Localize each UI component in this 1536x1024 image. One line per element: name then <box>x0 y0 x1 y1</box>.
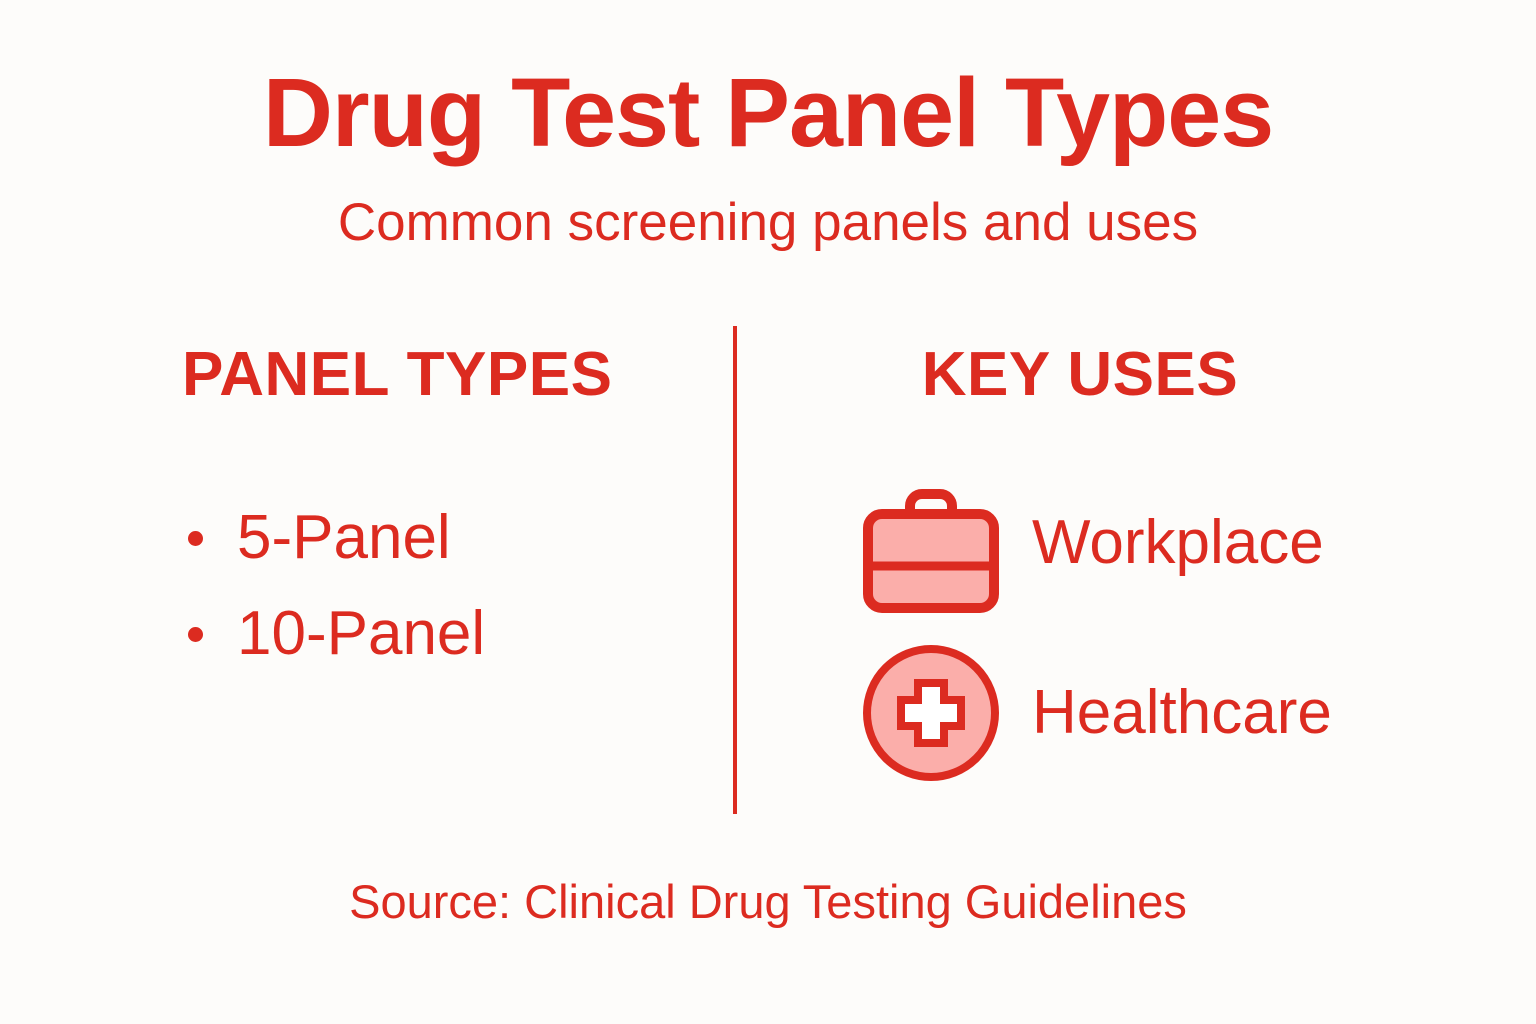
source-attribution: Source: Clinical Drug Testing Guidelines <box>0 876 1536 928</box>
list-item-label: Workplace <box>1032 512 1324 574</box>
column-divider <box>733 326 737 814</box>
list-item-label: 5-Panel <box>237 507 451 569</box>
list-item: 10-Panel <box>110 586 710 682</box>
list-item-label: Healthcare <box>1032 682 1332 744</box>
list-item: Healthcare <box>858 628 1518 798</box>
panel-types-list: 5-Panel 10-Panel <box>110 490 710 682</box>
bullet-dot-icon <box>188 531 203 546</box>
key-uses-heading: KEY USES <box>760 344 1460 406</box>
medical-cross-circle-icon <box>858 640 1004 786</box>
bullet-dot-icon <box>188 627 203 642</box>
list-item-label: 10-Panel <box>237 603 485 665</box>
key-uses-column: KEY USES <box>760 344 1460 406</box>
list-item: 5-Panel <box>110 490 710 586</box>
infographic-canvas: Drug Test Panel Types Common screening p… <box>0 0 1536 1024</box>
panel-types-column: PANEL TYPES <box>110 344 710 406</box>
list-item: Workplace <box>858 458 1518 628</box>
panel-types-heading: PANEL TYPES <box>110 344 710 406</box>
page-subtitle: Common screening panels and uses <box>0 194 1536 252</box>
key-uses-list: Workplace Healthcare <box>858 458 1518 798</box>
briefcase-icon <box>858 470 1004 616</box>
page-title: Drug Test Panel Types <box>0 62 1536 164</box>
